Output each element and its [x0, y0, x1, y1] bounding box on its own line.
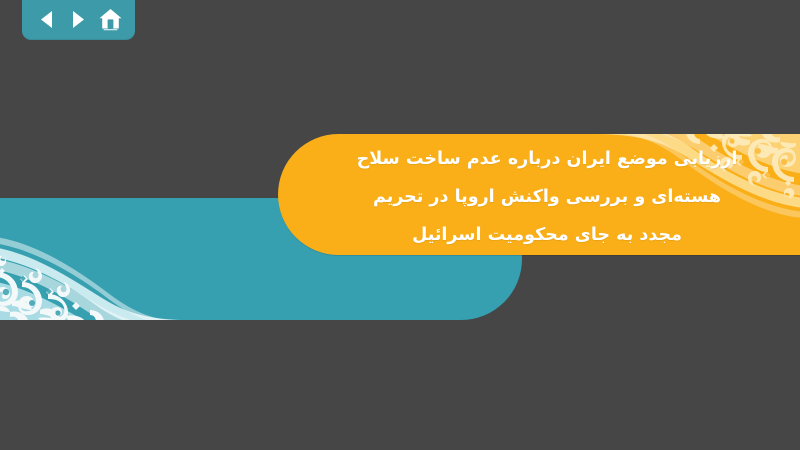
title-panel: ارزیابی موضع ایران درباره عدم ساخت سلاح … — [278, 134, 800, 255]
home-icon — [98, 7, 123, 31]
back-button[interactable] — [34, 6, 60, 32]
arabesque-corner-ornament — [0, 198, 190, 320]
page-title: ارزیابی موضع ایران درباره عدم ساخت سلاح … — [278, 134, 800, 255]
forward-button[interactable] — [65, 6, 91, 32]
headline-line-2: هسته‌ای و بررسی واکنش اروپا در تحریم — [306, 178, 788, 216]
triangle-right-icon — [70, 10, 87, 29]
headline-line-1: ارزیابی موضع ایران درباره عدم ساخت سلاح — [306, 140, 788, 178]
headline-line-3: مجدد به جای محکومیت اسرائیل — [306, 216, 788, 254]
navigation-bar — [22, 0, 135, 40]
triangle-left-icon — [38, 10, 55, 29]
home-button[interactable] — [97, 6, 123, 32]
